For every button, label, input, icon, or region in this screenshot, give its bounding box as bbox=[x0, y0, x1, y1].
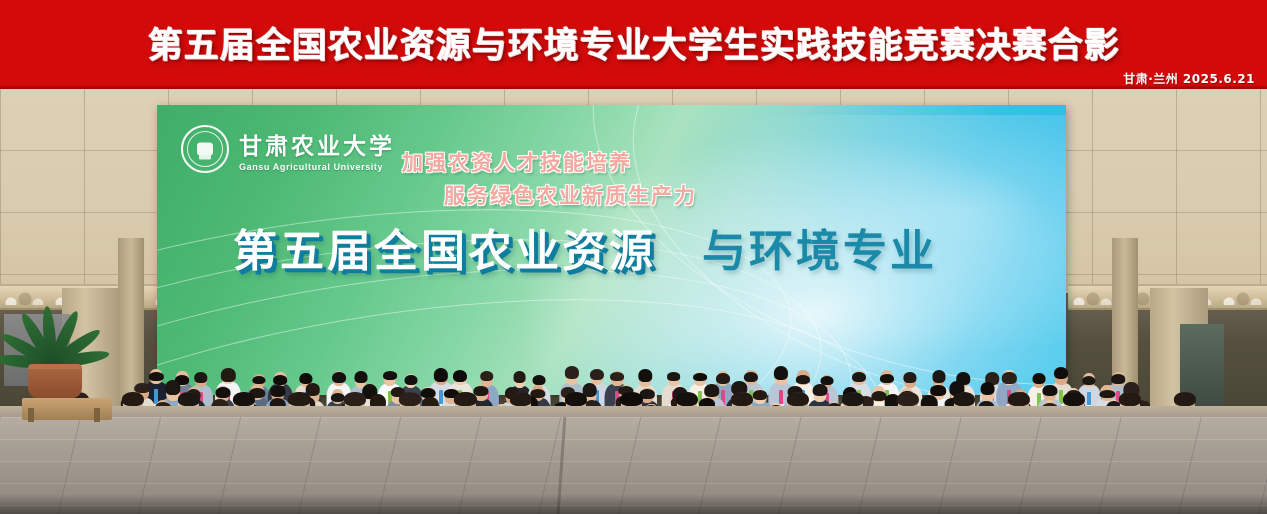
person-hair bbox=[1119, 392, 1141, 406]
plaza-foreground-shadow bbox=[0, 494, 1267, 514]
person-hair bbox=[1174, 392, 1196, 406]
person-hair bbox=[510, 392, 532, 406]
person-hair bbox=[620, 392, 642, 406]
person-hair bbox=[786, 392, 808, 406]
person-hair bbox=[842, 392, 864, 406]
wooden-bench bbox=[22, 398, 112, 420]
person-hair bbox=[178, 392, 200, 406]
person-hair bbox=[399, 392, 421, 406]
person-hair bbox=[344, 392, 366, 406]
location-date-caption: 甘肃·兰州 2025.6.21 bbox=[1123, 70, 1255, 87]
person-hair bbox=[454, 392, 476, 406]
commemorative-group-photo-poster: 第五届全国农业资源与环境专业大学生实践技能竞赛决赛合影 甘肃·兰州 2025.6… bbox=[0, 0, 1267, 514]
page-title: 第五届全国农业资源与环境专业大学生实践技能竞赛决赛合影 bbox=[0, 17, 1267, 68]
person-hair bbox=[731, 392, 753, 406]
plant-pot bbox=[28, 364, 82, 398]
person-hair bbox=[1063, 392, 1085, 406]
plaza-ground bbox=[0, 417, 1267, 514]
person-hair bbox=[676, 392, 698, 406]
person-hair bbox=[565, 392, 587, 406]
person-hair bbox=[122, 392, 144, 406]
person-hair bbox=[288, 392, 310, 406]
person-hair bbox=[897, 392, 919, 406]
person-hair bbox=[233, 392, 255, 406]
potted-palm-plant bbox=[2, 288, 114, 418]
person-hair bbox=[953, 392, 975, 406]
group-photograph: 甘肃农业大学 Gansu Agricultural University 加强农… bbox=[0, 88, 1267, 514]
poster-header-band: 第五届全国农业资源与环境专业大学生实践技能竞赛决赛合影 甘肃·兰州 2025.6… bbox=[0, 0, 1267, 89]
person-hair bbox=[1008, 392, 1030, 406]
